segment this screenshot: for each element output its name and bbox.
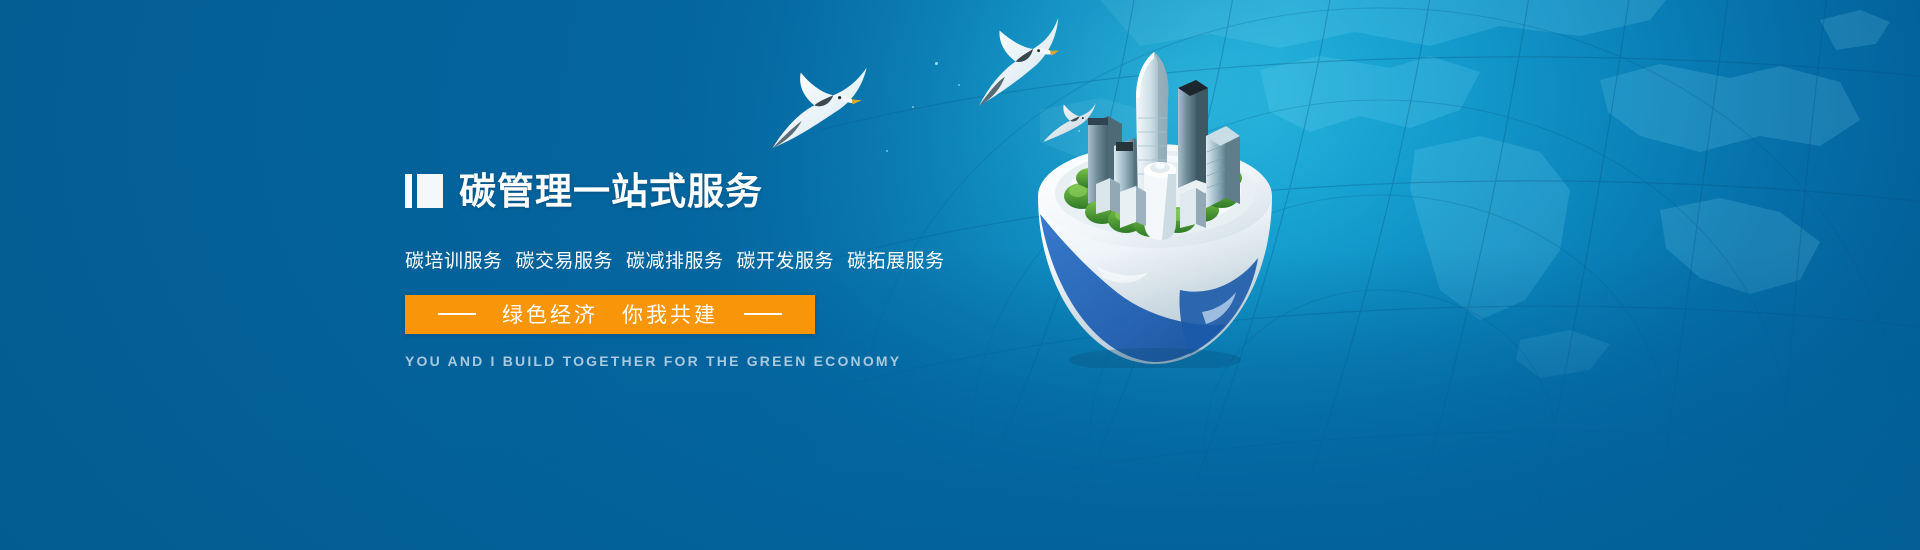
background-vignette [0, 0, 1920, 550]
slogan-button[interactable]: 绿色经济 你我共建 [405, 295, 815, 334]
bar-mark-icon [405, 174, 443, 208]
page-title: 碳管理一站式服务 [459, 173, 763, 210]
slogan-text: 绿色经济 你我共建 [502, 299, 718, 329]
star-speck [958, 84, 960, 86]
globe-city-icon [1030, 28, 1280, 368]
star-speck [935, 62, 938, 65]
seagull-icon [755, 49, 879, 156]
dash-left-icon [438, 313, 476, 315]
title-row: 碳管理一站式服务 [405, 148, 925, 235]
carbon-management-banner: 碳管理一站式服务 碳培训服务 碳交易服务 碳减排服务 碳开发服务 碳拓展服务 绿… [0, 0, 1920, 550]
english-tagline: YOU AND I BUILD TOGETHER FOR THE GREEN E… [405, 353, 815, 369]
service-list: 碳培训服务 碳交易服务 碳减排服务 碳开发服务 碳拓展服务 [405, 246, 925, 273]
service-item-4: 碳拓展服务 [847, 246, 945, 273]
dash-right-icon [744, 313, 782, 315]
service-item-3: 碳开发服务 [737, 246, 835, 273]
star-speck [912, 106, 914, 108]
service-item-2: 碳减排服务 [626, 246, 724, 273]
banner-content: 碳管理一站式服务 碳培训服务 碳交易服务 碳减排服务 碳开发服务 碳拓展服务 绿… [405, 148, 925, 369]
service-item-1: 碳交易服务 [516, 246, 614, 273]
service-item-0: 碳培训服务 [405, 246, 503, 273]
